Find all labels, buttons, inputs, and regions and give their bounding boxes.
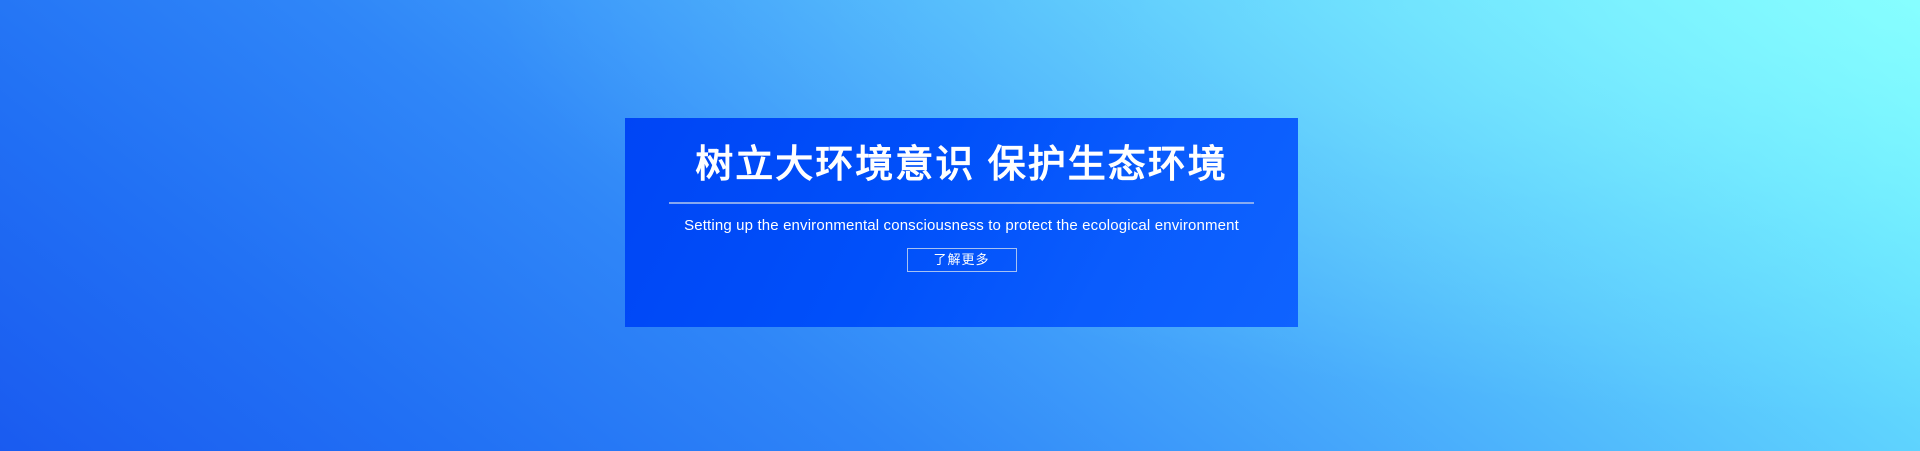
banner-content-card: 树立大环境意识 保护生态环境 Setting up the environmen… [625,118,1298,327]
learn-more-button[interactable]: 了解更多 [907,248,1017,272]
banner-divider [669,202,1254,204]
banner-title: 树立大环境意识 保护生态环境 [695,144,1228,188]
banner-subtitle: Setting up the environmental consciousne… [684,217,1239,234]
hero-banner: 树立大环境意识 保护生态环境 Setting up the environmen… [0,0,1920,451]
